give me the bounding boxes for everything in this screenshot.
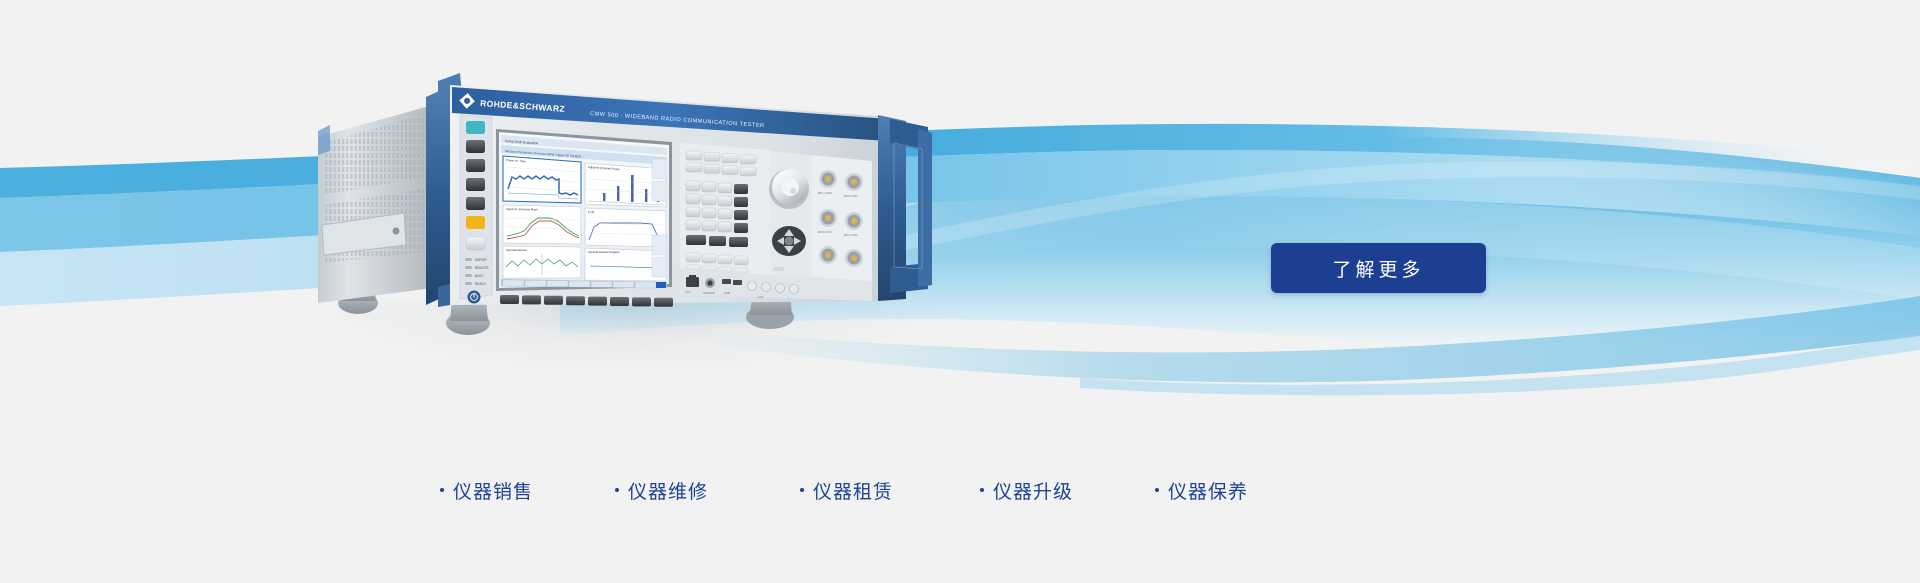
bullet-icon <box>800 488 804 492</box>
instrument-connector-panel: RF1 COM RF2 COM RF3 COM RF4 COM <box>812 155 872 293</box>
side-key-print <box>466 197 485 210</box>
instrument-side-keys: ERROR REMOTE BUSY READY <box>460 115 492 304</box>
side-key-sys <box>466 237 485 250</box>
learn-more-button[interactable]: 了解更多 <box>1271 243 1486 293</box>
service-link-instrument-rental[interactable]: 仪器租赁 <box>800 477 893 504</box>
bullet-icon <box>615 488 619 492</box>
instrument-right-handle <box>878 115 932 301</box>
svg-text:Spectrum Emission Mask: Spectrum Emission Mask <box>506 207 538 212</box>
svg-text:BUSY: BUSY <box>475 274 485 278</box>
svg-text:LAN: LAN <box>685 290 690 294</box>
svg-text:RF2 COM: RF2 COM <box>844 194 858 198</box>
svg-text:RF1 COM: RF1 COM <box>818 191 832 195</box>
svg-text:Spectral Flatness: Spectral Flatness <box>506 248 527 252</box>
svg-text:RF4 COM: RF4 COM <box>844 233 858 237</box>
service-link-instrument-sales[interactable]: 仪器销售 <box>440 477 533 504</box>
svg-text:Spectral Flatness Register: Spectral Flatness Register <box>588 250 620 254</box>
service-link-label: 仪器升级 <box>993 477 1073 504</box>
svg-text:USB: USB <box>724 291 730 295</box>
bullet-icon <box>440 488 444 492</box>
svg-text:REMOTE: REMOTE <box>475 266 489 270</box>
service-link-instrument-upgrade[interactable]: 仪器升级 <box>980 477 1073 504</box>
svg-text:R&S: R&S <box>774 267 785 273</box>
service-link-instrument-maintenance[interactable]: 仪器保养 <box>1155 477 1248 504</box>
instrument-screen: Select Multi Evaluation Measure Paramete… <box>496 129 672 291</box>
service-link-instrument-repair[interactable]: 仪器维修 <box>615 477 708 504</box>
instrument-device: ROHDE&SCHWARZ CMW 500 · WIDEBAND RADIO C… <box>300 55 940 355</box>
service-link-label: 仪器维修 <box>628 477 708 504</box>
instrument-side-panel <box>318 103 440 303</box>
hero-banner: ROHDE&SCHWARZ CMW 500 · WIDEBAND RADIO C… <box>0 0 1920 583</box>
service-link-label: 仪器保养 <box>1168 477 1248 504</box>
side-key-setup <box>466 178 485 191</box>
svg-text:RF3 COM: RF3 COM <box>818 230 832 234</box>
side-key-help <box>466 216 485 229</box>
svg-text:AUX: AUX <box>758 295 764 299</box>
svg-text:EVM: EVM <box>588 210 595 214</box>
svg-text:READY: READY <box>475 282 487 286</box>
instrument-front-panel: ROHDE&SCHWARZ CMW 500 · WIDEBAND RADIO C… <box>450 85 890 307</box>
service-link-label: 仪器租赁 <box>813 477 893 504</box>
service-link-label: 仪器销售 <box>453 477 533 504</box>
instrument-knob-area: R&S <box>769 151 812 295</box>
bullet-icon <box>980 488 984 492</box>
side-key-signal-gen <box>466 159 485 172</box>
side-key-task <box>466 121 485 134</box>
svg-text:ERROR: ERROR <box>475 258 487 262</box>
service-links: 仪器销售 仪器维修 仪器租赁 仪器升级 仪器保养 <box>440 470 1240 510</box>
svg-text:SENSOR: SENSOR <box>703 291 715 295</box>
side-key-menu <box>466 140 485 153</box>
bullet-icon <box>1155 488 1159 492</box>
